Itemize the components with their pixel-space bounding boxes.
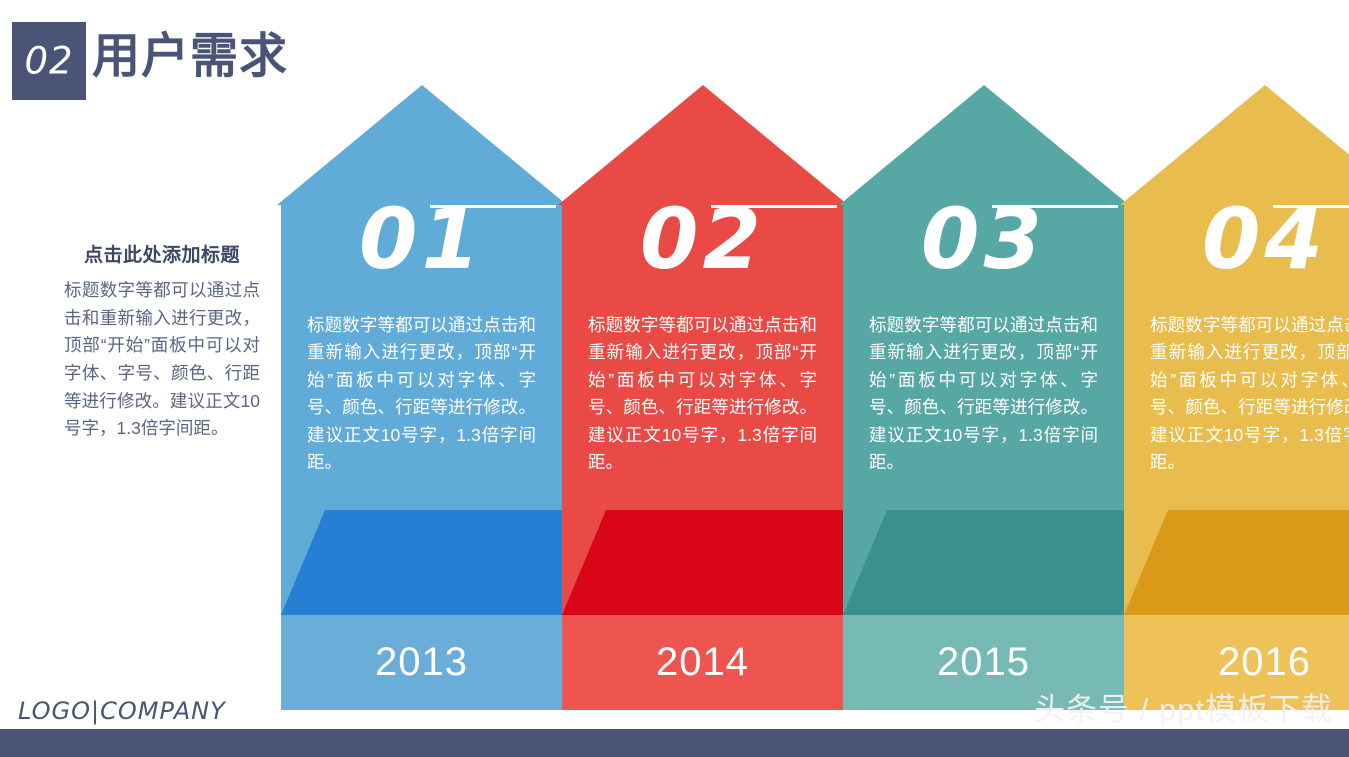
number-underline-rule — [711, 205, 837, 208]
arrow-card-accent-band — [281, 510, 606, 615]
slide-canvas: 02 用户需求 点击此处添加标题 标题数字等都可以通过点击和重新输入进行更改，顶… — [0, 0, 1349, 757]
watermark-text: 头条号 / ppt模板下载 — [1034, 684, 1333, 729]
number-underline-rule — [992, 205, 1118, 208]
number-underline-rule — [430, 205, 556, 208]
arrow-head-icon — [839, 85, 1129, 205]
page-title: 用户需求 — [92, 33, 288, 81]
arrow-card-01[interactable]: 01 标题数字等都可以通过点击和重新输入进行更改，顶部“开始”面板中可以对字体、… — [281, 85, 562, 710]
arrow-card-02[interactable]: 02 标题数字等都可以通过点击和重新输入进行更改，顶部“开始”面板中可以对字体、… — [562, 85, 843, 710]
arrow-head-icon — [1120, 85, 1349, 205]
arrow-card-year: 2013 — [281, 615, 562, 710]
arrow-card-text: 标题数字等都可以通过点击和重新输入进行更改，顶部“开始”面板中可以对字体、字号、… — [843, 312, 1124, 477]
arrow-head-icon — [277, 85, 567, 205]
logo-company-text: LOGO|COMPANY — [18, 697, 226, 725]
arrow-card-accent-band — [843, 510, 1168, 615]
arrow-card-accent-band — [562, 510, 887, 615]
arrow-head-icon — [558, 85, 848, 205]
left-block-body: 标题数字等都可以通过点击和重新输入进行更改，顶部“开始”面板中可以对字体、字号、… — [64, 277, 260, 443]
section-number-text: 02 — [12, 40, 86, 83]
number-underline-rule — [1273, 205, 1349, 208]
arrow-card-text: 标题数字等都可以通过点击和重新输入进行更改，顶部“开始”面板中可以对字体、字号、… — [1124, 312, 1349, 477]
arrow-card-03[interactable]: 03 标题数字等都可以通过点击和重新输入进行更改，顶部“开始”面板中可以对字体、… — [843, 85, 1124, 710]
left-description-block: 点击此处添加标题 标题数字等都可以通过点击和重新输入进行更改，顶部“开始”面板中… — [64, 240, 260, 443]
arrow-card-text: 标题数字等都可以通过点击和重新输入进行更改，顶部“开始”面板中可以对字体、字号、… — [281, 312, 562, 477]
arrow-card-04[interactable]: 04 标题数字等都可以通过点击和重新输入进行更改，顶部“开始”面板中可以对字体、… — [1124, 85, 1349, 710]
left-block-title: 点击此处添加标题 — [64, 240, 260, 267]
arrow-card-year: 2014 — [562, 615, 843, 710]
section-number-badge: 02 — [12, 22, 86, 100]
arrow-card-text: 标题数字等都可以通过点击和重新输入进行更改，顶部“开始”面板中可以对字体、字号、… — [562, 312, 843, 477]
bottom-bar — [0, 729, 1349, 757]
